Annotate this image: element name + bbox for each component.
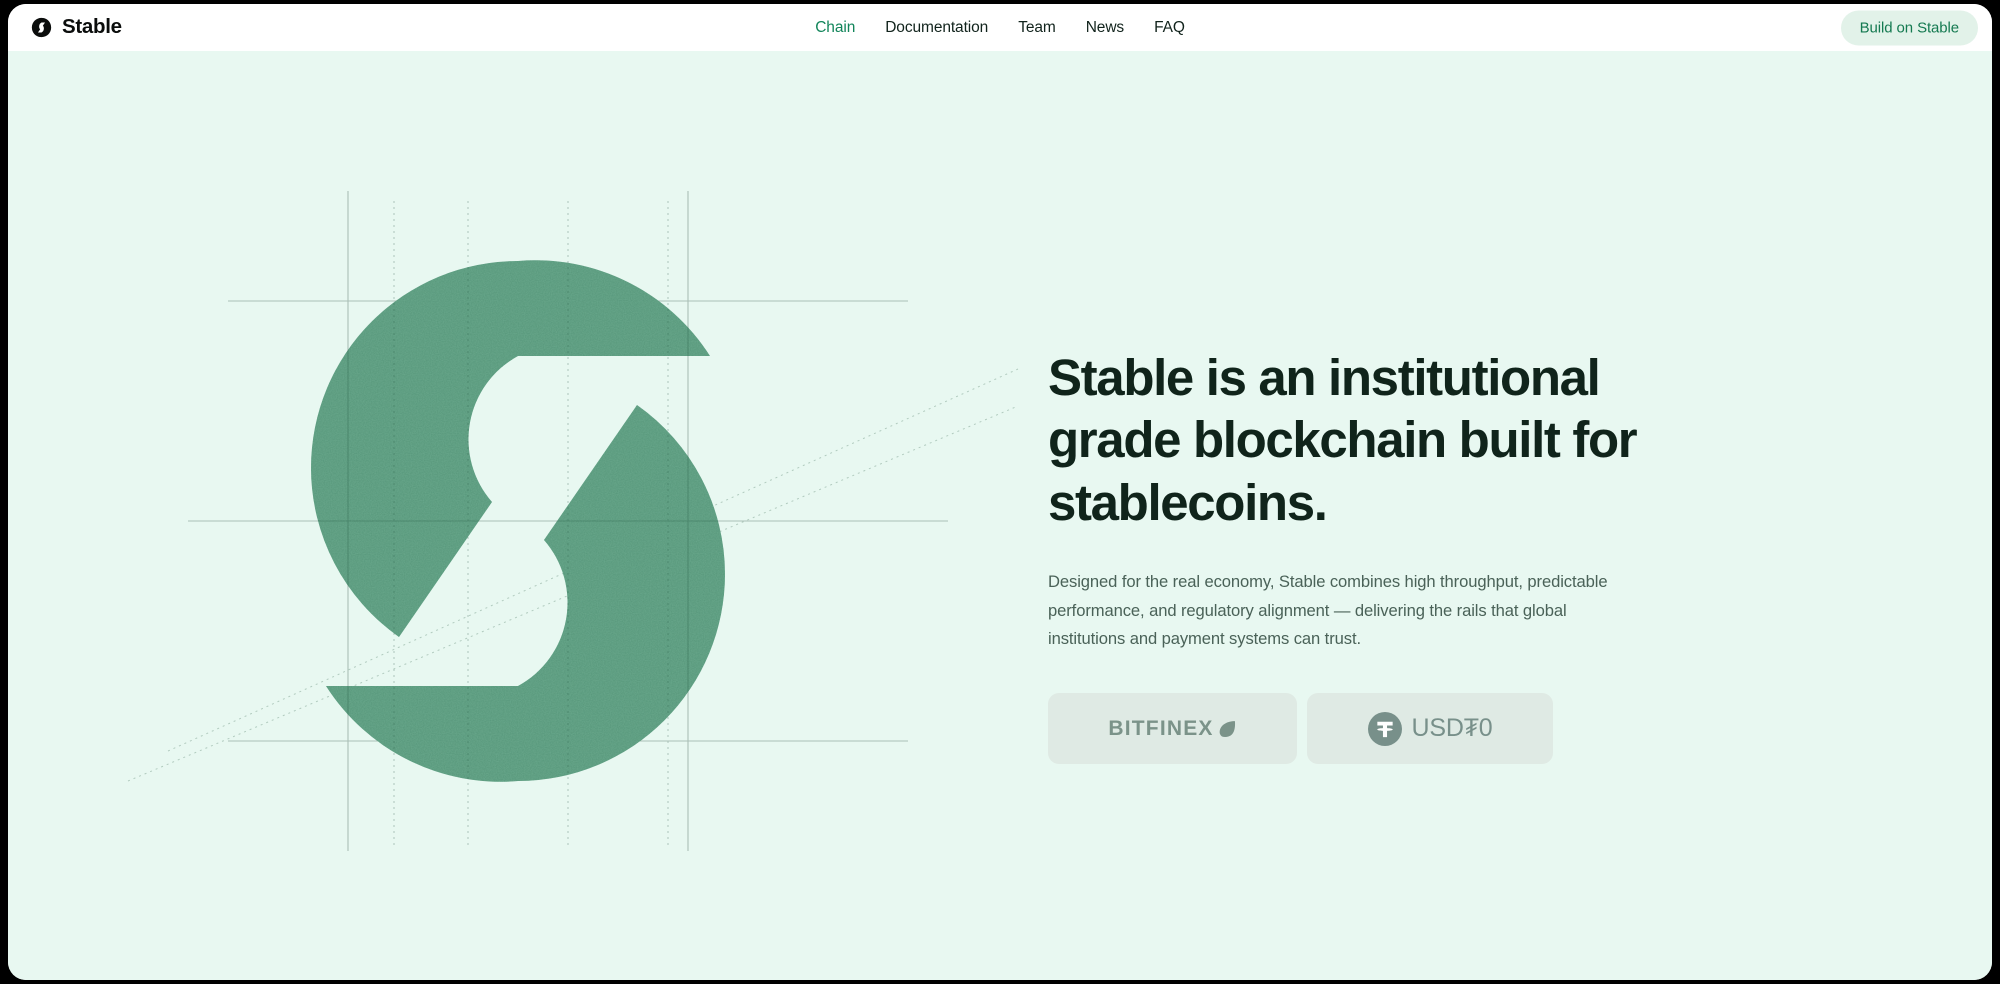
browser-page-frame: Stable Chain Documentation Team News FAQ… — [8, 4, 1992, 980]
build-on-stable-button[interactable]: Build on Stable — [1841, 10, 1978, 45]
tether-coin-icon — [1368, 712, 1402, 746]
bitfinex-wordmark: BITFINEX — [1108, 718, 1213, 739]
nav-item-team[interactable]: Team — [1018, 19, 1056, 37]
guide-dotted-verticals — [394, 201, 668, 846]
nav-item-chain[interactable]: Chain — [815, 19, 855, 37]
bitfinex-logo: BITFINEX — [1108, 718, 1236, 739]
site-header: Stable Chain Documentation Team News FAQ… — [8, 4, 1992, 51]
nav-item-faq[interactable]: FAQ — [1154, 19, 1185, 37]
main-navigation: Chain Documentation Team News FAQ — [815, 19, 1185, 37]
s-mark-shape — [311, 260, 725, 781]
brand-logo[interactable]: Stable — [30, 16, 122, 39]
hero-section: Stable is an institutional grade blockch… — [8, 51, 1992, 980]
partner-card-usdt0[interactable]: USD₮0 — [1307, 693, 1553, 764]
blueprint-svg — [8, 51, 1028, 980]
usdt0-wordmark: USD₮0 — [1412, 716, 1493, 741]
stable-s-logo-icon — [30, 16, 53, 39]
partner-logo-row: BITFINEX USD₮0 — [1048, 693, 1668, 764]
hero-heading: Stable is an institutional grade blockch… — [1048, 347, 1668, 534]
partner-card-bitfinex[interactable]: BITFINEX — [1048, 693, 1297, 764]
stable-s-logo-blueprint-graphic — [8, 51, 1028, 980]
guide-overlay-on-mark — [188, 191, 948, 851]
nav-item-news[interactable]: News — [1086, 19, 1124, 37]
usdt0-logo: USD₮0 — [1368, 712, 1493, 746]
nav-item-documentation[interactable]: Documentation — [885, 19, 988, 37]
bitfinex-leaf-icon — [1217, 719, 1237, 739]
brand-name: Stable — [62, 17, 122, 38]
hero-subheading: Designed for the real economy, Stable co… — [1048, 568, 1628, 654]
guide-dotted-diagonals — [128, 369, 1018, 781]
hero-copy: Stable is an institutional grade blockch… — [1048, 347, 1668, 764]
guide-solid-box — [188, 191, 948, 851]
